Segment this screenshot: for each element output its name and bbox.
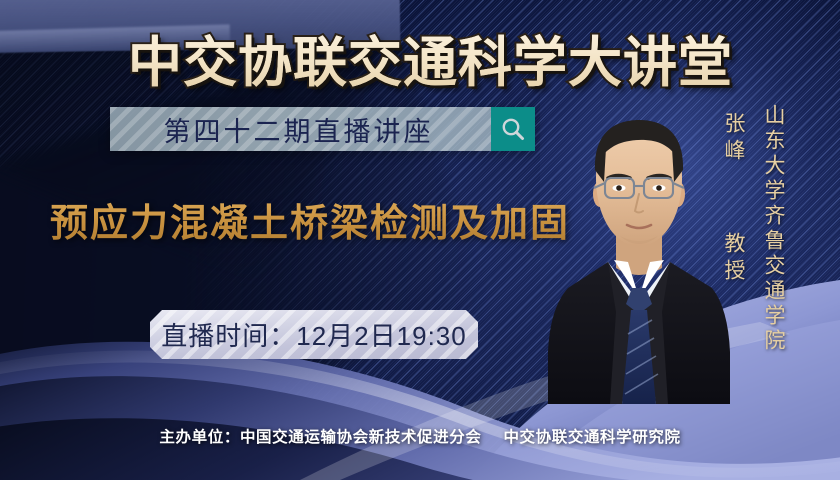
episode-bar-body: 第四十二期直播讲座 — [110, 107, 491, 151]
live-time-badge: 直播时间：12月2日19:30 — [150, 310, 478, 359]
poster-main-title: 中交协联交通科学大讲堂 — [128, 18, 733, 97]
episode-bar[interactable]: 第四十二期直播讲座 — [110, 107, 535, 151]
lecture-title: 预应力混凝土桥梁检测及加固 — [50, 192, 570, 247]
speaker-name: 张峰 — [718, 112, 748, 212]
search-icon-svg — [500, 116, 526, 142]
live-lecture-poster: 中交协联交通科学大讲堂 中交协联交通科学大讲堂 第四十二期直播讲座 预应力混凝土… — [0, 0, 840, 480]
search-icon[interactable] — [491, 107, 535, 151]
speaker-title: 教授 — [718, 232, 748, 286]
speaker-affiliation: 山东大学齐鲁交通学院 — [758, 104, 788, 354]
speaker-portrait — [548, 112, 730, 404]
footer-organizer-2: 中交协联交通科学研究院 — [503, 429, 680, 446]
footer-organizers: 主办单位：中国交通运输协会新技术促进分会中交协联交通科学研究院 — [0, 425, 840, 447]
live-time-text: 直播时间：12月2日19:30 — [161, 316, 466, 353]
footer-organizer-1: 中国交通运输协会新技术促进分会 — [240, 429, 482, 446]
footer-prefix: 主办单位： — [159, 429, 240, 446]
episode-label: 第四十二期直播讲座 — [164, 110, 438, 149]
speaker-portrait-svg — [548, 112, 730, 404]
